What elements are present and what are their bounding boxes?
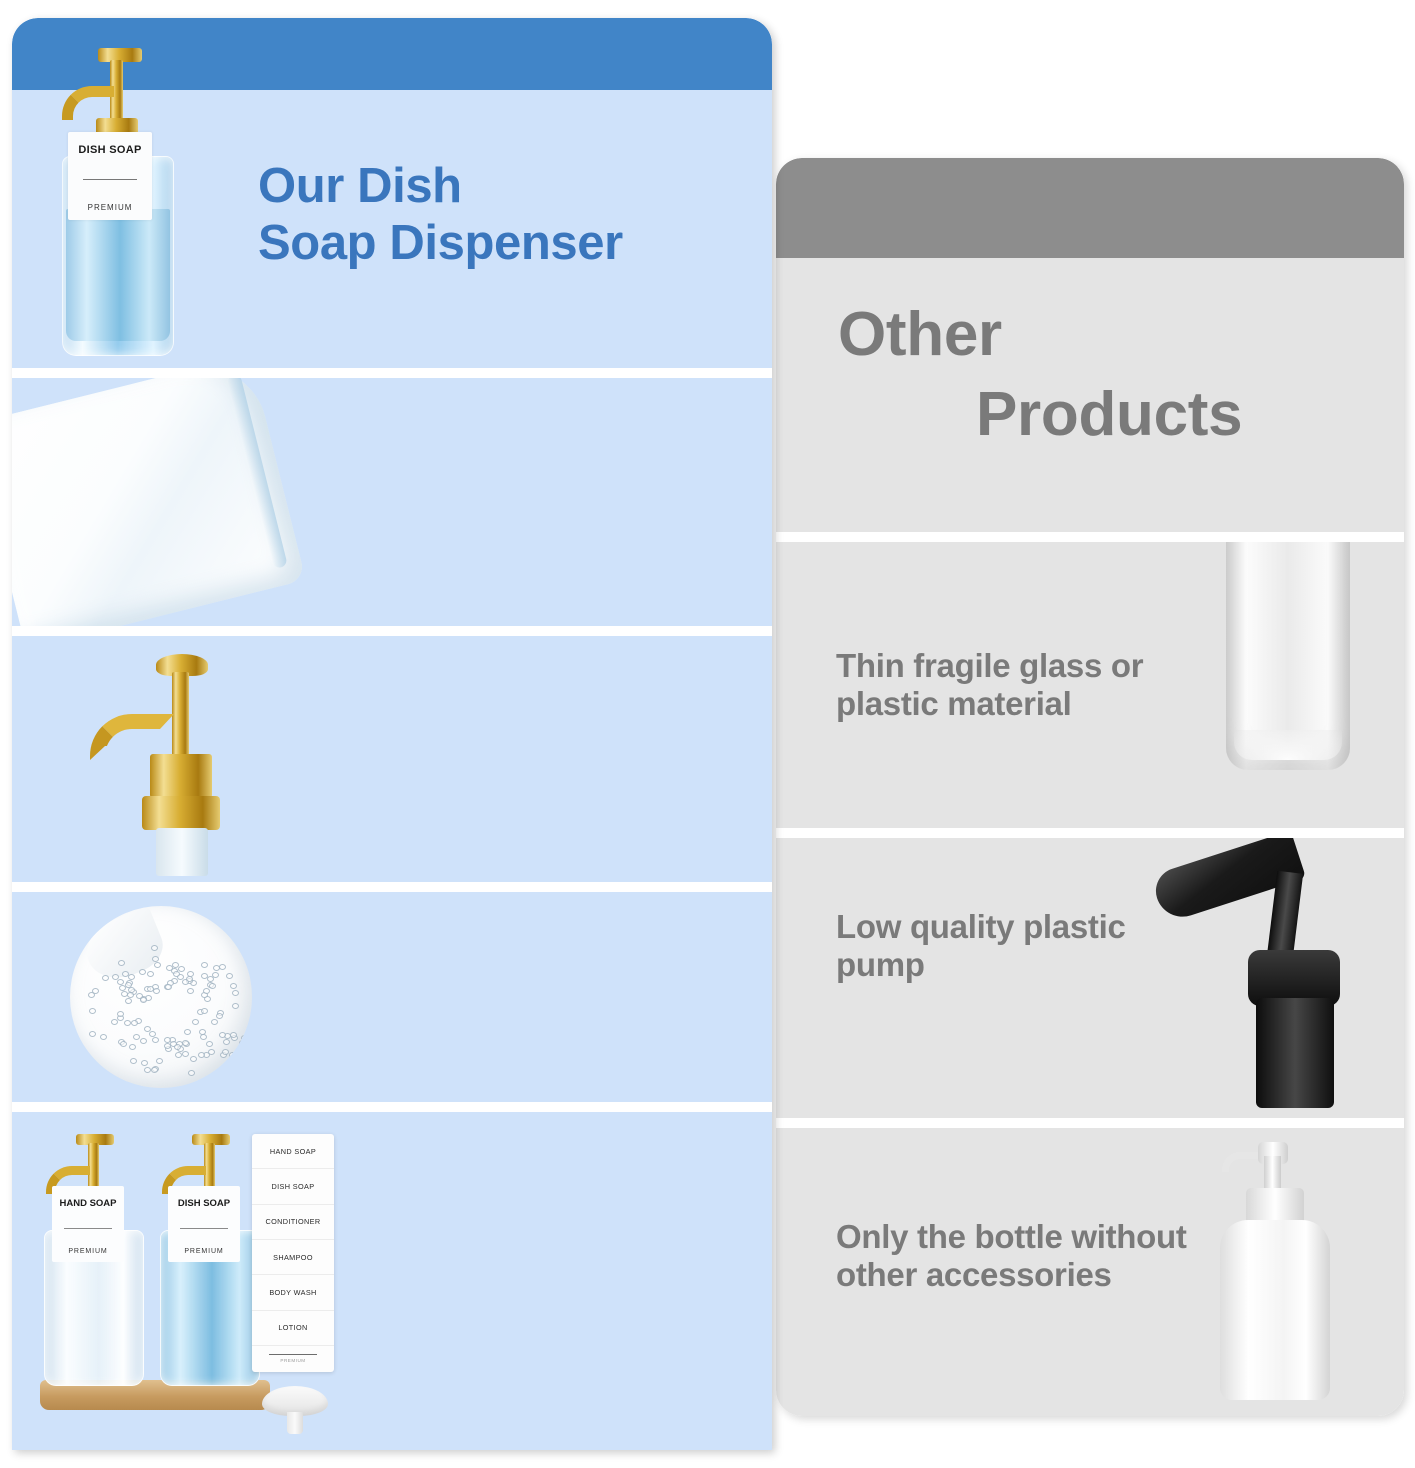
dispenser-set-image: HAND SOAP PREMIUM DISH SOAP PREMIUM HA <box>30 1134 350 1438</box>
our-panel-title-line2: Soap Dispenser <box>258 215 772 272</box>
plastic-pellet <box>206 1041 213 1047</box>
set-bottle-label-main: DISH SOAP <box>178 1198 230 1209</box>
plastic-pellet <box>230 983 237 989</box>
plastic-pellet <box>153 988 160 994</box>
other-drawback-text-2: Only the bottle without other accessorie… <box>836 1218 1196 1293</box>
funnel-spout <box>287 1412 303 1434</box>
funnel-image <box>262 1386 328 1436</box>
label-divider <box>83 179 137 180</box>
plastic-pellet <box>182 1051 189 1057</box>
gold-pump-closeup-image <box>72 648 292 874</box>
plastic-pellet <box>201 962 208 968</box>
our-feature-row-thick-glass: Super thick glass is long-lasting <box>12 378 772 626</box>
plastic-pellet <box>152 1037 159 1043</box>
plastic-pellet <box>156 1058 163 1064</box>
other-panel-header-band <box>776 158 1404 258</box>
plastic-pellet <box>89 1031 96 1037</box>
plastic-pellet <box>102 975 109 981</box>
plastic-pellet <box>141 1060 148 1066</box>
plastic-pellet <box>125 982 132 988</box>
set-bottle-dish-soap: DISH SOAP PREMIUM <box>154 1134 266 1386</box>
other-panel-title-line1: Other <box>838 300 1002 371</box>
plastic-pellet <box>89 1008 96 1014</box>
plastic-pellet <box>187 988 194 994</box>
plastic-pellet <box>127 992 134 998</box>
sticker-sheet-footer: PREMIUM <box>252 1346 334 1372</box>
sticker-footer-rule <box>269 1354 317 1355</box>
pump-collar <box>150 754 212 798</box>
hero-bottle-label-sub: PREMIUM <box>88 203 133 212</box>
plastic-pellet <box>92 988 99 994</box>
sticker-sheet: HAND SOAP DISH SOAP CONDITIONER SHAMPOO … <box>252 1134 334 1372</box>
other-drawback-row-bottle-only: Only the bottle without other accessorie… <box>776 1128 1404 1416</box>
plastic-pellet <box>111 1019 118 1025</box>
sticker-footer-label: PREMIUM <box>280 1358 305 1363</box>
pump-base-ring <box>142 796 220 830</box>
set-bottle-label-sub: PREMIUM <box>68 1248 107 1255</box>
pump-body <box>1256 998 1334 1108</box>
plastic-pellet <box>118 960 125 966</box>
our-product-panel: DISH SOAP PREMIUM Our Dish Soap Dispense… <box>12 18 772 1450</box>
plastic-pellet <box>211 1019 218 1025</box>
plastic-pellet <box>190 1056 197 1062</box>
plastic-pellet <box>165 984 172 990</box>
plastic-pellet <box>208 1049 215 1055</box>
plastic-pellet <box>192 1019 199 1025</box>
plastic-pellet <box>130 1058 137 1064</box>
hero-dish-soap-bottle-image: DISH SOAP PREMIUM <box>54 48 182 358</box>
plastic-pellet <box>213 965 220 971</box>
sticker-label: SHAMPOO <box>252 1240 334 1275</box>
abs-pellets-image <box>70 906 252 1088</box>
plastic-pellet <box>117 1011 124 1017</box>
our-feature-row-gold-pump: Fashionable 2cc pump with unique shape <box>12 636 772 882</box>
other-products-panel: Other Products Thin fragile glass or pla… <box>776 158 1404 1416</box>
plastic-pellet <box>229 1052 236 1058</box>
plastic-pellet <box>188 1070 195 1076</box>
other-panel-title-line2: Products <box>976 380 1242 451</box>
plastic-pellet <box>128 974 135 980</box>
plastic-pellet <box>212 972 219 978</box>
plastic-pellet <box>230 1032 237 1038</box>
hero-bottle-label: DISH SOAP PREMIUM <box>68 132 152 220</box>
plastic-pellet <box>232 990 239 996</box>
black-plastic-pump-image <box>1144 838 1374 1118</box>
sticker-label: CONDITIONER <box>252 1205 334 1240</box>
plastic-pellet <box>124 1020 131 1026</box>
plastic-pellet <box>226 973 233 979</box>
thin-glass-jar-image <box>1226 542 1350 770</box>
plastic-pellet <box>239 1040 246 1046</box>
plastic-pellet <box>174 1044 181 1050</box>
plastic-pellet <box>241 1035 248 1041</box>
sticker-label: DISH SOAP <box>252 1169 334 1204</box>
label-divider <box>180 1228 228 1229</box>
our-panel-title-line1: Our Dish <box>258 158 772 215</box>
bottle-body <box>1220 1220 1330 1400</box>
plastic-pellet <box>187 971 194 977</box>
set-bottle-label-sub: PREMIUM <box>184 1248 223 1255</box>
other-header-row: Other Products <box>776 158 1404 532</box>
our-feature-row-full-set: HAND SOAP PREMIUM DISH SOAP PREMIUM HA <box>12 1112 772 1450</box>
plastic-pellet <box>219 964 226 970</box>
sticker-label: BODY WASH <box>252 1275 334 1310</box>
thick-glass-closeup-image <box>12 378 306 626</box>
hero-bottle-liquid <box>66 209 170 341</box>
plastic-pellet <box>200 1034 207 1040</box>
plastic-pellet <box>201 1008 208 1014</box>
plastic-pellet <box>144 1067 151 1073</box>
other-drawback-row-plastic-pump: Low quality plastic pump <box>776 838 1404 1118</box>
plastic-pellet <box>131 1020 138 1026</box>
other-drawback-row-thin-glass: Thin fragile glass or plastic material <box>776 542 1404 828</box>
plastic-pellet <box>139 969 146 975</box>
plastic-pellet <box>120 1041 127 1047</box>
sticker-label: HAND SOAP <box>252 1134 334 1169</box>
pump-clear-tube <box>156 828 208 876</box>
plastic-pellet <box>184 1029 191 1035</box>
other-drawback-text-0: Thin fragile glass or plastic material <box>836 647 1196 722</box>
sticker-label: LOTION <box>252 1311 334 1346</box>
other-drawback-text-1: Low quality plastic pump <box>836 908 1166 983</box>
plastic-pellet <box>100 1034 107 1040</box>
hero-bottle-label-main: DISH SOAP <box>78 144 141 156</box>
plastic-pellet <box>152 956 159 962</box>
plastic-pellet <box>216 1013 223 1019</box>
plastic-pellet <box>223 1039 230 1045</box>
label-divider <box>64 1228 112 1229</box>
plastic-pellet <box>232 1003 239 1009</box>
plastic-pellet <box>151 1067 158 1073</box>
plastic-pellet <box>198 1052 205 1058</box>
set-bottle-hand-soap: HAND SOAP PREMIUM <box>38 1134 150 1386</box>
plastic-pellet <box>209 983 216 989</box>
plastic-pellet <box>149 1031 156 1037</box>
set-bottle-label-main: HAND SOAP <box>59 1198 116 1209</box>
our-feature-row-abs-plastic: Pump is made of premium ABS plastic, mor… <box>12 892 772 1102</box>
plastic-pellet <box>140 1038 147 1044</box>
our-hero-row: DISH SOAP PREMIUM Our Dish Soap Dispense… <box>12 18 772 368</box>
plastic-pellet <box>125 998 132 1004</box>
plastic-pellet <box>129 1044 136 1050</box>
plastic-pellet <box>175 1052 182 1058</box>
plastic-pellet <box>203 988 210 994</box>
pump-stem <box>172 672 189 758</box>
our-panel-title: Our Dish Soap Dispenser <box>258 158 772 272</box>
set-bottle-label: DISH SOAP PREMIUM <box>168 1186 240 1262</box>
set-bottle-label: HAND SOAP PREMIUM <box>52 1186 124 1262</box>
plastic-pellet <box>136 993 143 999</box>
plastic-pellet <box>154 962 161 968</box>
plastic-pellet <box>147 971 154 977</box>
plain-white-bottle-image <box>1220 1138 1330 1400</box>
plastic-pellet <box>178 966 185 972</box>
